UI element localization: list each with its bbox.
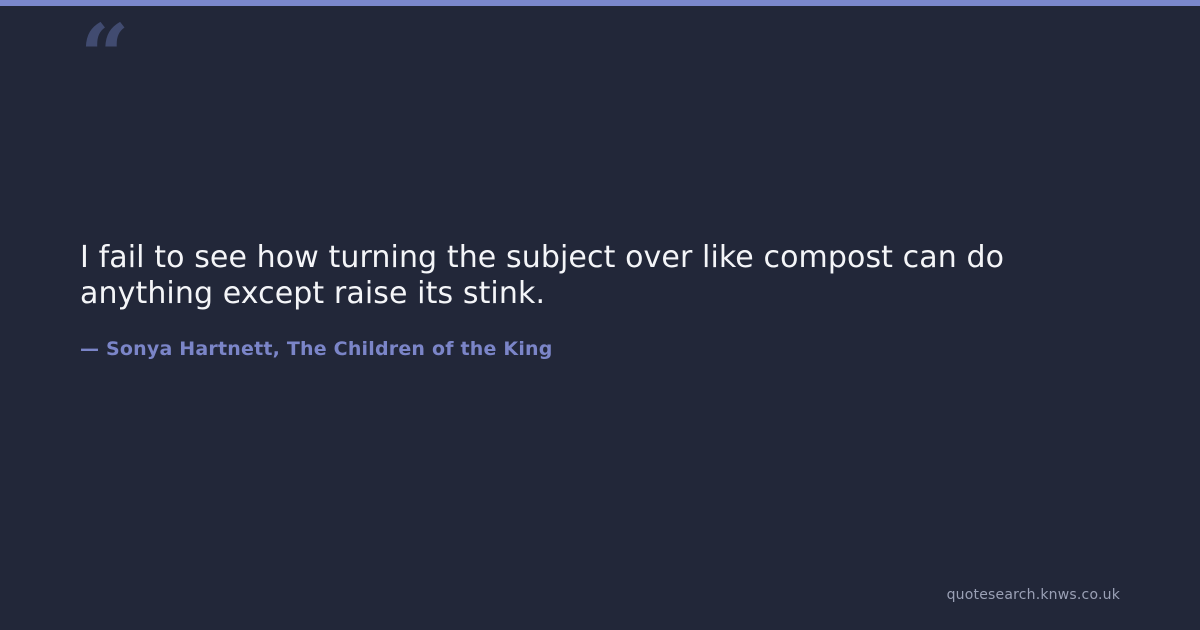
quote-text: I fail to see how turning the subject ov… <box>80 240 1090 312</box>
open-quote-icon: “ <box>80 14 127 100</box>
quote-attribution: — Sonya Hartnett, The Children of the Ki… <box>80 312 1090 361</box>
top-accent-bar <box>0 0 1200 6</box>
quote-block: I fail to see how turning the subject ov… <box>80 240 1090 361</box>
footer-site-url: quotesearch.knws.co.uk <box>947 586 1120 604</box>
quote-card: “ I fail to see how turning the subject … <box>0 0 1200 630</box>
